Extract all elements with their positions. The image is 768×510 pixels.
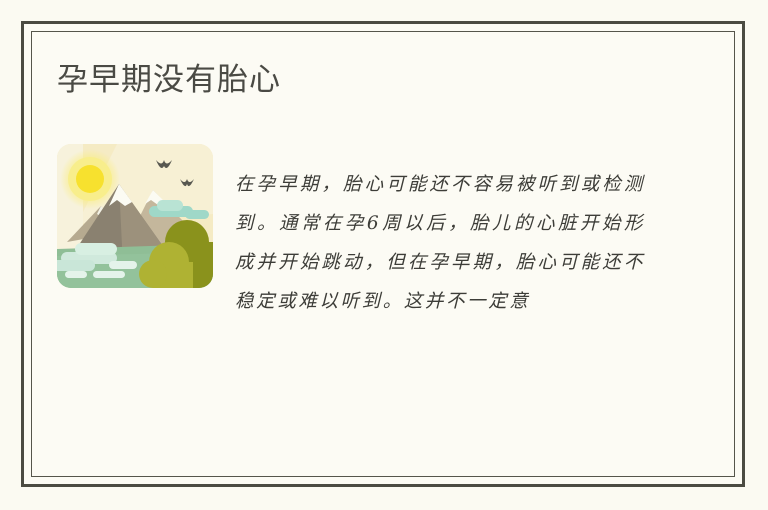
page-root: 孕早期没有胎心 <box>0 0 768 510</box>
article-body-text: 在孕早期，胎心可能还不容易被听到或检测到。通常在孕6周以后，胎儿的心脏开始形成并… <box>235 165 645 321</box>
article-card: 孕早期没有胎心 <box>31 31 735 477</box>
page-title: 孕早期没有胎心 <box>57 59 281 101</box>
landscape-illustration-svg <box>57 144 213 288</box>
mountain-landscape-illustration <box>57 144 213 288</box>
sun-core <box>76 165 104 193</box>
